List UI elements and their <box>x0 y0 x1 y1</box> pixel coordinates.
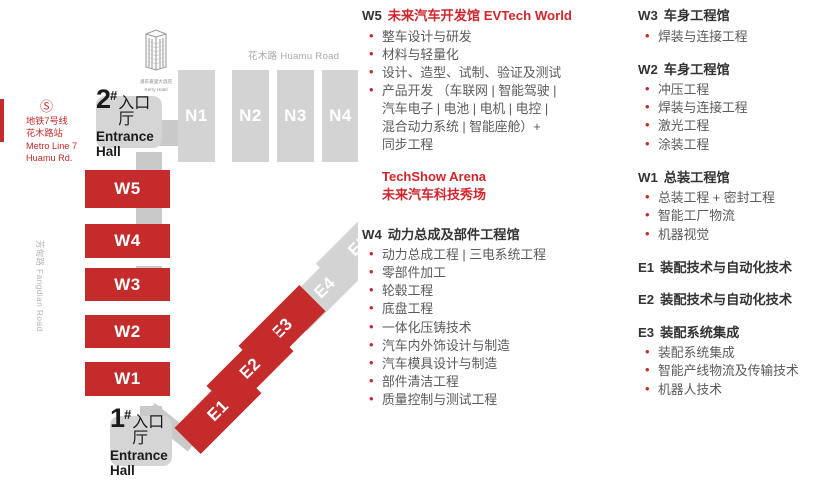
exhibition-floorplan-page: Ⓢ 地铁7号线 花木路站 Metro Line 7 Huamu Rd. <box>0 0 840 482</box>
hall-e3-name: 装配系统集成 <box>660 325 739 342</box>
list-item: 动力总成工程 | 三电系统工程 <box>362 246 634 264</box>
metro-label: 地铁7号线 花木路站 Metro Line 7 Huamu Rd. <box>26 115 98 164</box>
list-item: 焊装与连接工程 <box>638 28 840 46</box>
list-item: 产品开发 （车联网 | 智能驾驶 | <box>362 82 634 100</box>
hall-w4[interactable]: W4 <box>85 224 170 258</box>
list-item: 焊装与连接工程 <box>638 99 840 117</box>
hall-n2[interactable]: N2 <box>232 70 269 162</box>
entrance-1-cn: 入口厅 <box>132 415 172 447</box>
list-item: 智能产线物流及传输技术 <box>638 362 840 380</box>
list-item: 汽车内外饰设计与制造 <box>362 337 634 355</box>
hall-w5-code: W5 <box>362 8 382 25</box>
list-item: 部件清洁工程 <box>362 373 634 391</box>
hall-e3-items: 装配系统集成 智能产线物流及传输技术 机器人技术 <box>638 344 840 398</box>
list-item: 冲压工程 <box>638 81 840 99</box>
list-item: 总装工程 + 密封工程 <box>638 189 840 207</box>
hall-e2-code: E2 <box>638 292 654 309</box>
metro-line-en: Metro Line 7 <box>26 140 98 152</box>
hall-w3[interactable]: W3 <box>85 268 170 301</box>
hall-w2-label: W2 <box>114 322 141 342</box>
list-item-cont: 同步工程 <box>362 136 634 154</box>
list-item: 轮毂工程 <box>362 282 634 300</box>
list-item: 整车设计与研发 <box>362 28 634 46</box>
hall-block-w4: W4 动力总成及部件工程馆 动力总成工程 | 三电系统工程 零部件加工 轮毂工程… <box>362 227 634 410</box>
column-spacer <box>638 244 840 260</box>
hall-e2-title: E2 装配技术与自动化技术 <box>638 292 840 309</box>
hall-w4-title: W4 动力总成及部件工程馆 <box>362 227 634 244</box>
hall-e4-label: E4 <box>310 273 340 303</box>
list-item: 质量控制与测试工程 <box>362 391 634 409</box>
venue-map: Ⓢ 地铁7号线 花木路站 Metro Line 7 Huamu Rd. <box>0 0 358 482</box>
list-item: 智能工厂物流 <box>638 207 840 225</box>
hall-w4-name: 动力总成及部件工程馆 <box>388 227 520 244</box>
road-label-fangdian: 芳甸路 Fangdian Road <box>34 240 46 332</box>
kerry-hotel-marker: 浦东嘉里大酒店 Kerry Hotel <box>128 27 184 93</box>
entrance-2-en: Entrance Hall <box>96 129 162 159</box>
hall-w2-name: 车身工程馆 <box>664 62 730 79</box>
list-item: 机器视觉 <box>638 226 840 244</box>
hall-w1-code: W1 <box>638 170 658 187</box>
list-item: 底盘工程 <box>362 300 634 318</box>
list-item: 涂装工程 <box>638 136 840 154</box>
hall-w4-code: W4 <box>362 227 382 244</box>
hall-e2-name: 装配技术与自动化技术 <box>660 292 792 309</box>
hall-n3-label: N3 <box>284 106 307 126</box>
road-label-huamu: 花木路 Huamu Road <box>248 48 339 62</box>
hall-description-column-middle: W5 未来汽车开发馆 EVTech World 整车设计与研发 材料与轻量化 设… <box>362 8 634 409</box>
hall-w5[interactable]: W5 <box>85 170 170 208</box>
hall-w1-items: 总装工程 + 密封工程 智能工厂物流 机器视觉 <box>638 189 840 243</box>
hall-e1-label: E1 <box>203 396 233 426</box>
list-item-cont: 汽车电子 | 电池 | 电机 | 电控 | <box>362 100 634 118</box>
column-spacer <box>638 309 840 325</box>
hall-w3-items: 焊装与连接工程 <box>638 28 840 46</box>
hall-w1-title: W1 总装工程馆 <box>638 170 840 187</box>
hall-e3-code: E3 <box>638 325 654 342</box>
entrance-2-hash: # <box>110 89 117 102</box>
list-item: 机器人技术 <box>638 381 840 399</box>
hall-w1-label: W1 <box>114 369 141 389</box>
hall-w2-code: W2 <box>638 62 658 79</box>
hall-w2[interactable]: W2 <box>85 315 170 348</box>
hall-block-w3: W3 车身工程馆 焊装与连接工程 <box>638 8 840 46</box>
list-item: 零部件加工 <box>362 264 634 282</box>
connector-w5-w4 <box>136 206 162 226</box>
hall-n1[interactable]: N1 <box>178 70 215 162</box>
metro-station-cn: 花木路站 <box>26 127 98 139</box>
hall-w5-items: 整车设计与研发 材料与轻量化 设计、造型、试制、验证及测试 产品开发 （车联网 … <box>362 28 634 155</box>
hall-block-w2: W2 车身工程馆 冲压工程 焊装与连接工程 激光工程 涂装工程 <box>638 62 840 154</box>
hall-w1[interactable]: W1 <box>85 362 170 396</box>
metro-logo-icon: Ⓢ <box>40 100 98 113</box>
column-spacer <box>638 154 840 170</box>
hall-w5-title: W5 未来汽车开发馆 EVTech World <box>362 8 634 25</box>
hall-w2-items: 冲压工程 焊装与连接工程 激光工程 涂装工程 <box>638 81 840 154</box>
techshow-arena-en: TechShow Arena <box>382 168 634 186</box>
hall-w2-title: W2 车身工程馆 <box>638 62 840 79</box>
hall-w4-items: 动力总成工程 | 三电系统工程 零部件加工 轮毂工程 底盘工程 一体化压铸技术 … <box>362 246 634 409</box>
hall-block-w1: W1 总装工程馆 总装工程 + 密封工程 智能工厂物流 机器视觉 <box>638 170 840 244</box>
list-item: 装配系统集成 <box>638 344 840 362</box>
hotel-name-cn: 浦东嘉里大酒店 <box>128 79 184 85</box>
metro-station-en: Huamu Rd. <box>26 152 98 164</box>
entrance-1-hash: # <box>124 408 131 421</box>
list-item: 激光工程 <box>638 117 840 135</box>
hall-e1-name: 装配技术与自动化技术 <box>660 260 792 277</box>
hall-w1-name: 总装工程馆 <box>664 170 730 187</box>
hall-block-w5: W5 未来汽车开发馆 EVTech World 整车设计与研发 材料与轻量化 设… <box>362 8 634 205</box>
hall-e3-title: E3 装配系统集成 <box>638 325 840 342</box>
hall-w3-title: W3 车身工程馆 <box>638 8 840 25</box>
hotel-building-icon <box>139 27 173 72</box>
hall-w3-label: W3 <box>114 275 141 295</box>
entrance-hall-2[interactable]: 2 # 入口厅 Entrance Hall <box>96 96 162 148</box>
map-edge-accent-bar <box>0 99 4 142</box>
hall-block-e3: E3 装配系统集成 装配系统集成 智能产线物流及传输技术 机器人技术 <box>638 325 840 399</box>
hall-w3-code: W3 <box>638 8 658 25</box>
hall-w4-label: W4 <box>114 231 141 251</box>
hall-w3-name: 车身工程馆 <box>664 8 730 25</box>
hall-n3[interactable]: N3 <box>277 70 314 162</box>
hall-n4[interactable]: N4 <box>322 70 358 162</box>
list-item: 一体化压铸技术 <box>362 319 634 337</box>
metro-line-cn: 地铁7号线 <box>26 115 98 127</box>
hall-e1-code: E1 <box>638 260 654 277</box>
entrance-2-number: 2 <box>96 86 110 113</box>
column-spacer <box>362 205 634 227</box>
entrance-2-line1: 2 # 入口厅 <box>96 86 162 128</box>
hall-n2-label: N2 <box>239 106 262 126</box>
hall-e1-title: E1 装配技术与自动化技术 <box>638 260 840 277</box>
hall-w5-label: W5 <box>114 179 141 199</box>
entrance-hall-1[interactable]: 1 # 入口厅 Entrance Hall <box>110 416 172 466</box>
hall-block-e2: E2 装配技术与自动化技术 <box>638 292 840 309</box>
hall-n4-label: N4 <box>329 106 352 126</box>
column-spacer <box>638 276 840 292</box>
list-item: 材料与轻量化 <box>362 46 634 64</box>
entrance-1-number: 1 <box>110 405 124 432</box>
hall-w5-name: 未来汽车开发馆 EVTech World <box>388 8 572 25</box>
column-spacer <box>638 46 840 62</box>
list-item-cont: 混合动力系统 | 智能座舱）+ <box>362 118 634 136</box>
metro-station-marker: Ⓢ 地铁7号线 花木路站 Metro Line 7 Huamu Rd. <box>26 100 98 164</box>
hall-block-e1: E1 装配技术与自动化技术 <box>638 260 840 277</box>
techshow-arena-block: TechShow Arena 未来汽车科技秀场 <box>362 168 634 205</box>
hall-n1-label: N1 <box>185 106 208 126</box>
hall-description-column-right: W3 车身工程馆 焊装与连接工程 W2 车身工程馆 冲压工程 焊装与连接工程 激… <box>638 8 840 399</box>
list-item: 设计、造型、试制、验证及测试 <box>362 64 634 82</box>
entrance-2-cn: 入口厅 <box>118 96 162 128</box>
list-item: 汽车模具设计与制造 <box>362 355 634 373</box>
entrance-1-en: Entrance Hall <box>110 448 172 478</box>
entrance-1-line1: 1 # 入口厅 <box>110 405 172 447</box>
techshow-arena-cn: 未来汽车科技秀场 <box>382 186 634 204</box>
